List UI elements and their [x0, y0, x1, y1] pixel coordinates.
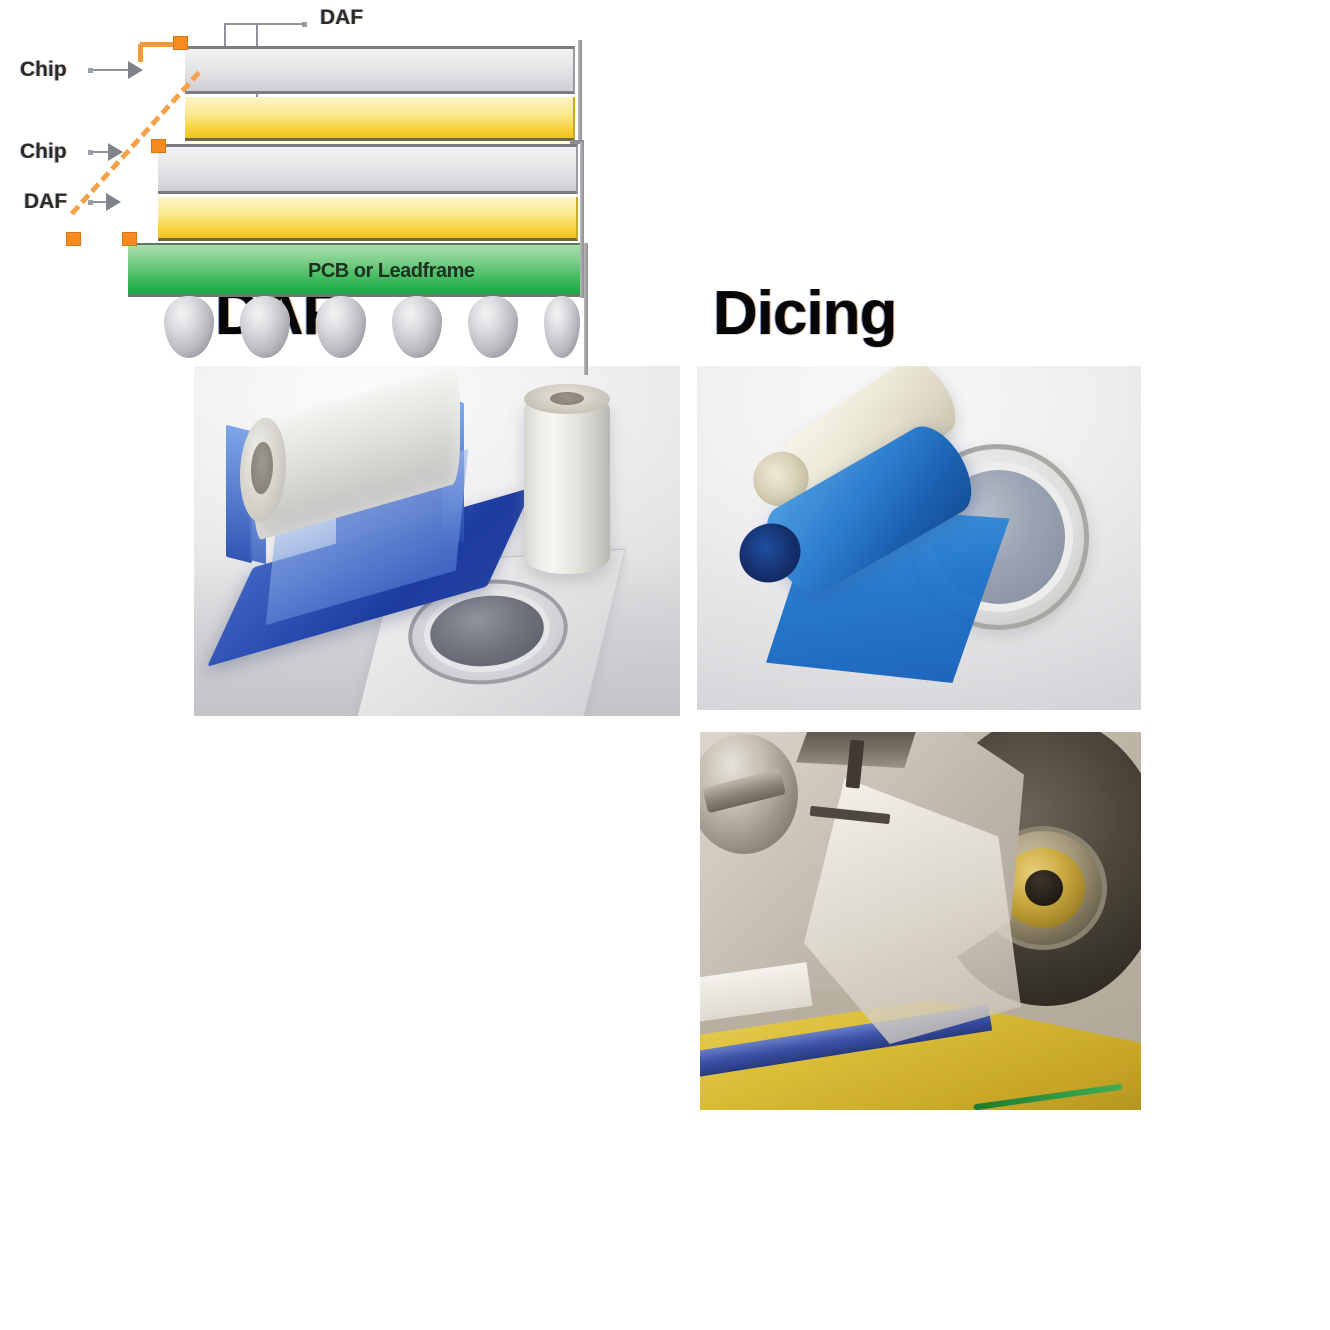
- diagram-label-daf-upper: DAF: [320, 6, 363, 30]
- solder-ball: [316, 296, 366, 358]
- diagram-label-chip-upper: Chip: [20, 58, 67, 82]
- solder-ball: [392, 296, 442, 358]
- selection-handle: [173, 36, 188, 50]
- selection-handle: [122, 232, 137, 246]
- substrate-label: PCB or Leadframe: [308, 260, 475, 283]
- solder-ball: [468, 296, 518, 358]
- solder-ball: [544, 296, 580, 358]
- arrowhead-right-icon-daf-lower: [106, 193, 121, 211]
- selection-handle: [66, 232, 81, 246]
- diagram-label-daf-lower: DAF: [24, 190, 67, 214]
- selection-path-top-elbow: [138, 44, 143, 62]
- layer-daf-upper: [185, 97, 575, 141]
- daf-film-roll-standing-core-hole: [550, 392, 584, 405]
- daf-product-photo: [194, 366, 680, 716]
- daf-film-roll-standing: [524, 392, 610, 574]
- arrowhead-right-icon-chip-upper: [128, 61, 143, 79]
- right-edge-marker-substrate: [584, 243, 588, 375]
- daf-stack-cross-section-diagram: DAF Chip Chip DAF PCB or Leadframe: [0, 0, 496, 378]
- dicing-machine-photo: [700, 732, 1141, 1110]
- layer-daf-lower: [158, 197, 578, 241]
- selection-handle: [151, 139, 166, 153]
- dicing-tape-product-photo: [697, 366, 1141, 710]
- right-edge-marker-upper: [578, 40, 582, 140]
- solder-ball: [164, 296, 214, 358]
- diagram-label-chip-lower: Chip: [20, 140, 67, 164]
- layer-chip-upper: [185, 46, 575, 94]
- leader-line-daf-upper-horizontal: [224, 23, 304, 25]
- screenshot-canvas: DAF Dicing DAF: [0, 0, 1330, 1330]
- layer-substrate-pcb: PCB or Leadframe: [128, 243, 584, 297]
- leader-line-chip-upper: [93, 69, 133, 71]
- layer-chip-lower: [158, 144, 578, 194]
- solder-ball: [240, 296, 290, 358]
- blade-spindle-hub: [1025, 870, 1063, 906]
- page-title-dicing: Dicing: [713, 283, 896, 345]
